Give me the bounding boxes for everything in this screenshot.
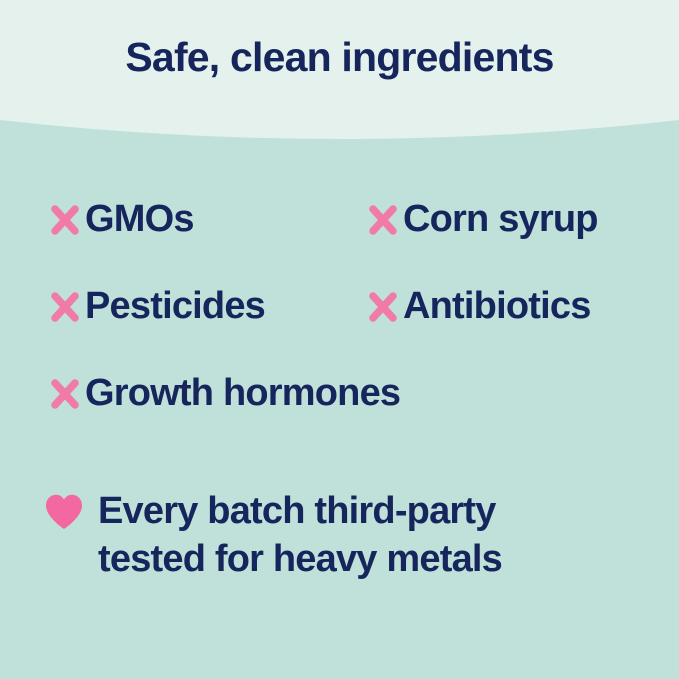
list-item-label: Antibiotics	[403, 283, 591, 329]
heart-icon	[44, 493, 84, 539]
x-mark-icon	[48, 285, 82, 331]
list-item: Corn syrup	[366, 196, 598, 242]
highlight-text: Every batch third-party tested for heavy…	[98, 487, 502, 583]
list-item: Growth hormones	[48, 370, 400, 416]
highlight-line-2: tested for heavy metals	[98, 535, 502, 583]
list-item-label: Corn syrup	[403, 196, 598, 242]
list-row: GMOs Corn syrup	[0, 196, 679, 283]
page-title: Safe, clean ingredients	[0, 33, 679, 81]
list-row: Growth hormones	[0, 370, 679, 457]
highlight-line-1: Every batch third-party	[98, 487, 502, 535]
exclusion-list: GMOs Corn syrup	[0, 196, 679, 457]
list-item: GMOs	[48, 196, 194, 242]
ingredients-claims-poster: Safe, clean ingredients GMOs	[0, 0, 679, 679]
highlight-claim: Every batch third-party tested for heavy…	[44, 487, 502, 583]
x-mark-icon	[366, 198, 400, 244]
list-item-label: Growth hormones	[85, 370, 400, 416]
x-mark-icon	[48, 372, 82, 418]
x-mark-icon	[366, 285, 400, 331]
list-item: Pesticides	[48, 283, 265, 329]
list-item-label: Pesticides	[85, 283, 265, 329]
list-row: Pesticides Antibiotics	[0, 283, 679, 370]
list-item-label: GMOs	[85, 196, 194, 242]
list-item: Antibiotics	[366, 283, 591, 329]
x-mark-icon	[48, 198, 82, 244]
